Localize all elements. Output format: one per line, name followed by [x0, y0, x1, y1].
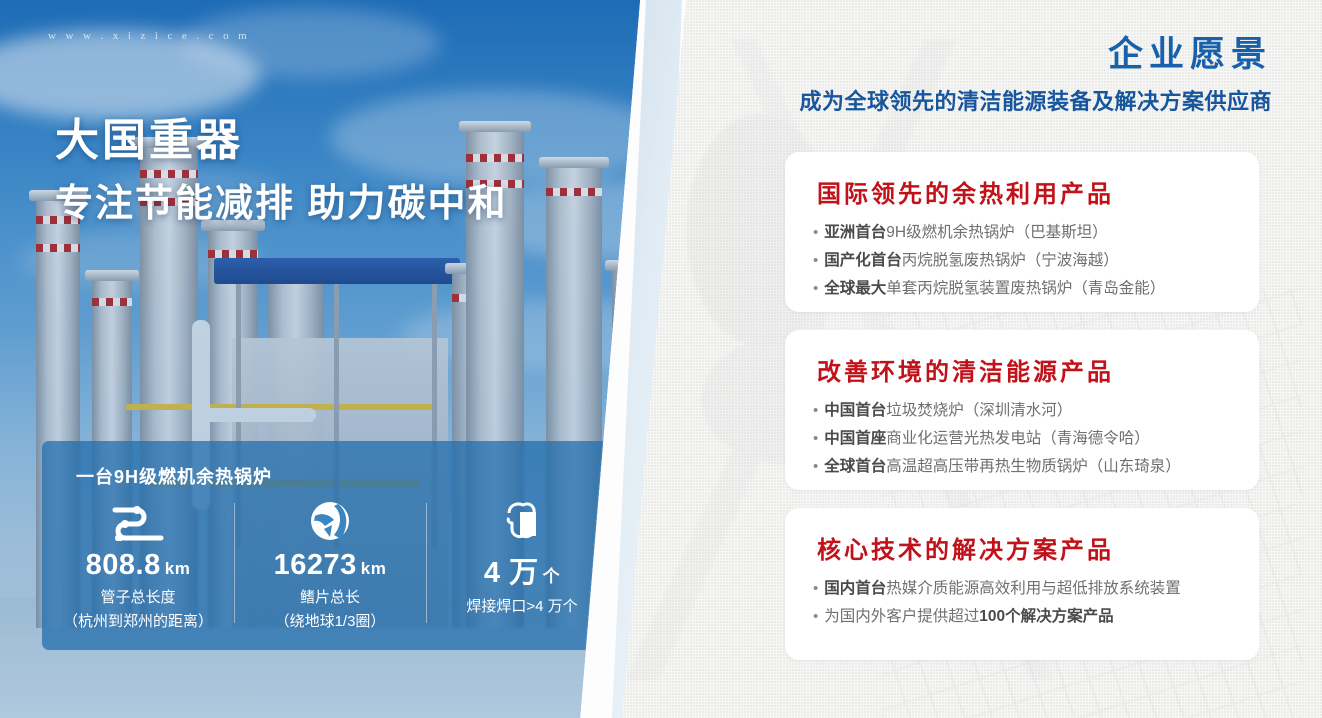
bullet-dot: • — [813, 276, 818, 302]
stat-label-primary: 焊接焊口>4 万个 — [466, 595, 577, 616]
hero-subtitle: 专注节能减排 助力碳中和 — [55, 172, 508, 227]
bullet-dot: • — [813, 426, 818, 452]
vision-card: 改善环境的清洁能源产品 •中国首台垃圾焚烧炉（深圳清水河） •中国首座商业化运营… — [785, 330, 1259, 490]
list-item: •国产化首台丙烷脱氢废热锅炉（宁波海越） — [813, 248, 1241, 274]
card-title: 核心技术的解决方案产品 — [817, 530, 1114, 565]
stat-value: 16273km — [274, 549, 387, 582]
stat-item: 4 万个 焊接焊口>4 万个 — [426, 499, 618, 649]
slide-root: w w w . x i z i c e . c o m 大国重器 专注节能减排 … — [0, 0, 1322, 718]
card-bullet-list: •中国首台垃圾焚烧炉（深圳清水河） •中国首座商业化运营光热发电站（青海德令哈）… — [813, 398, 1241, 482]
welding-mask-icon — [500, 499, 544, 543]
hero-title: 大国重器 — [55, 104, 243, 168]
stats-panel: 一台9H级燃机余热锅炉 808.8km 管子总长度 （杭州到郑州的距离） — [42, 441, 618, 650]
bullet-dot: • — [813, 398, 818, 424]
stat-item: 808.8km 管子总长度 （杭州到郑州的距离） — [42, 499, 234, 649]
stat-label-secondary: （杭州到郑州的距离） — [63, 610, 213, 631]
list-item: •中国首座商业化运营光热发电站（青海德令哈） — [813, 426, 1241, 452]
list-item: •全球最大单套丙烷脱氢装置废热锅炉（青岛金能） — [813, 276, 1241, 302]
stat-value: 808.8km — [86, 549, 191, 582]
site-watermark: w w w . x i z i c e . c o m — [48, 30, 250, 42]
vision-card: 核心技术的解决方案产品 •国内首台热媒介质能源高效利用与超低排放系统装置 •为国… — [785, 508, 1259, 660]
bullet-dot: • — [813, 248, 818, 274]
list-item: •为国内外客户提供超过100个解决方案产品 — [813, 604, 1241, 630]
card-bullet-list: •亚洲首台9H级燃机余热锅炉（巴基斯坦） •国产化首台丙烷脱氢废热锅炉（宁波海越… — [813, 220, 1241, 304]
hero-photo-panel: w w w . x i z i c e . c o m 大国重器 专注节能减排 … — [0, 0, 700, 718]
stat-label-secondary: （绕地球1/3圈） — [275, 610, 386, 631]
stat-label-primary: 管子总长度 — [100, 586, 175, 607]
bullet-dot: • — [813, 576, 818, 602]
pipe-route-icon — [107, 499, 169, 543]
card-bullet-list: •国内首台热媒介质能源高效利用与超低排放系统装置 •为国内外客户提供超过100个… — [813, 576, 1241, 632]
globe-icon — [308, 499, 352, 543]
bullet-dot: • — [813, 454, 818, 480]
card-title: 国际领先的余热利用产品 — [817, 174, 1114, 209]
vision-card: 国际领先的余热利用产品 •亚洲首台9H级燃机余热锅炉（巴基斯坦） •国产化首台丙… — [785, 152, 1259, 312]
bullet-dot: • — [813, 604, 818, 630]
bullet-dot: • — [813, 220, 818, 246]
stats-row: 808.8km 管子总长度 （杭州到郑州的距离） 16273km — [42, 499, 618, 649]
stat-item: 16273km 鳍片总长 （绕地球1/3圈） — [234, 499, 426, 649]
page-subtitle: 成为全球领先的清洁能源装备及解决方案供应商 — [799, 84, 1272, 116]
stat-label-primary: 鳍片总长 — [300, 586, 360, 607]
list-item: •国内首台热媒介质能源高效利用与超低排放系统装置 — [813, 576, 1241, 602]
stat-value: 4 万个 — [484, 549, 560, 591]
list-item: •中国首台垃圾焚烧炉（深圳清水河） — [813, 398, 1241, 424]
list-item: •全球首台高温超高压带再热生物质锅炉（山东琦泉） — [813, 454, 1241, 480]
stats-panel-title: 一台9H级燃机余热锅炉 — [76, 463, 272, 489]
page-title: 企业愿景 — [1108, 26, 1272, 77]
list-item: •亚洲首台9H级燃机余热锅炉（巴基斯坦） — [813, 220, 1241, 246]
card-title: 改善环境的清洁能源产品 — [817, 352, 1114, 387]
